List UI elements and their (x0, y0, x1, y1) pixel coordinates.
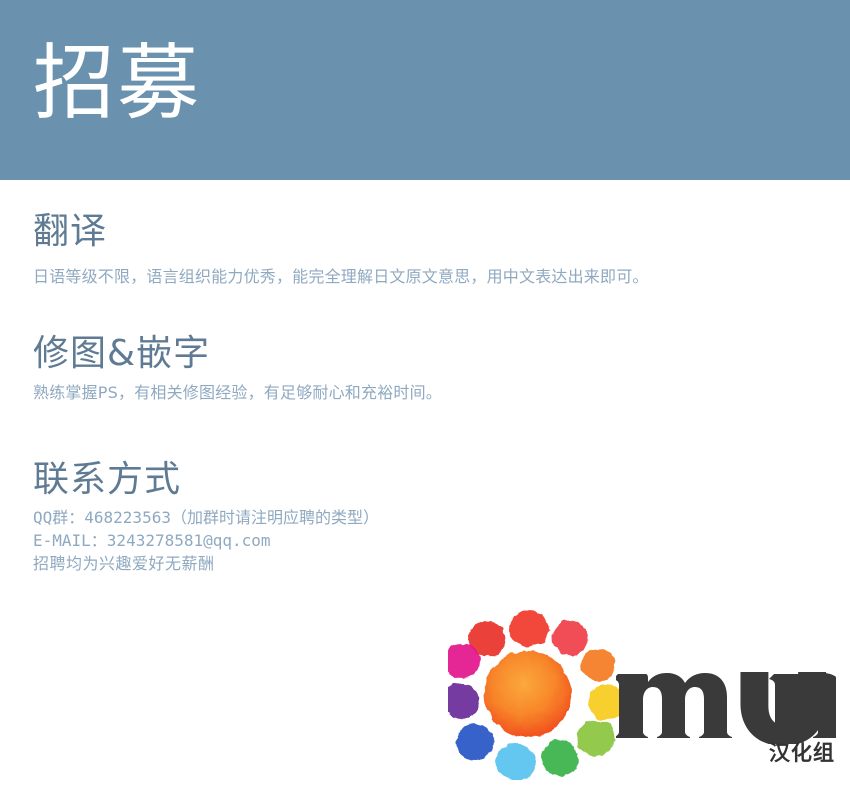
section-translate: 翻译 日语等级不限，语言组织能力优秀，能完全理解日文原文意思，用中文表达出来即可… (33, 210, 850, 290)
section-retouch-body: 熟练掌握PS，有相关修图经验，有足够耐心和充裕时间。 (33, 380, 850, 406)
contact-line-note: 招聘均为兴趣爱好无薪酬 (33, 552, 850, 575)
section-translate-body: 日语等级不限，语言组织能力优秀，能完全理解日文原文意思，用中文表达出来即可。 (33, 264, 850, 290)
contact-line-qq: QQ群：468223563（加群时请注明应聘的类型） (33, 506, 850, 529)
section-retouch-title: 修图&嵌字 (33, 332, 850, 376)
wordmark: 汉化组 (616, 656, 841, 786)
section-retouch: 修图&嵌字 熟练掌握PS，有相关修图经验，有足够耐心和充裕时间。 (33, 332, 850, 406)
logo: 汉化组 (448, 608, 843, 788)
contact-lines: QQ群：468223563（加群时请注明应聘的类型） E-MAIL：324327… (33, 506, 850, 575)
contact-line-email: E-MAIL：3243278581@qq.com (33, 529, 850, 552)
wordmark-mum (616, 656, 836, 744)
section-contact: 联系方式 QQ群：468223563（加群时请注明应聘的类型） E-MAIL：3… (33, 458, 850, 575)
main-content: 翻译 日语等级不限，语言组织能力优秀，能完全理解日文原文意思，用中文表达出来即可… (0, 210, 850, 575)
wordmark-subtitle: 汉化组 (769, 740, 835, 766)
watercolor-circle-icon (448, 608, 623, 780)
page-title: 招募 (33, 36, 201, 132)
header-banner: 招募 (0, 0, 850, 180)
section-contact-title: 联系方式 (33, 458, 850, 502)
logo-center-blob (484, 651, 572, 737)
section-translate-title: 翻译 (33, 210, 850, 254)
